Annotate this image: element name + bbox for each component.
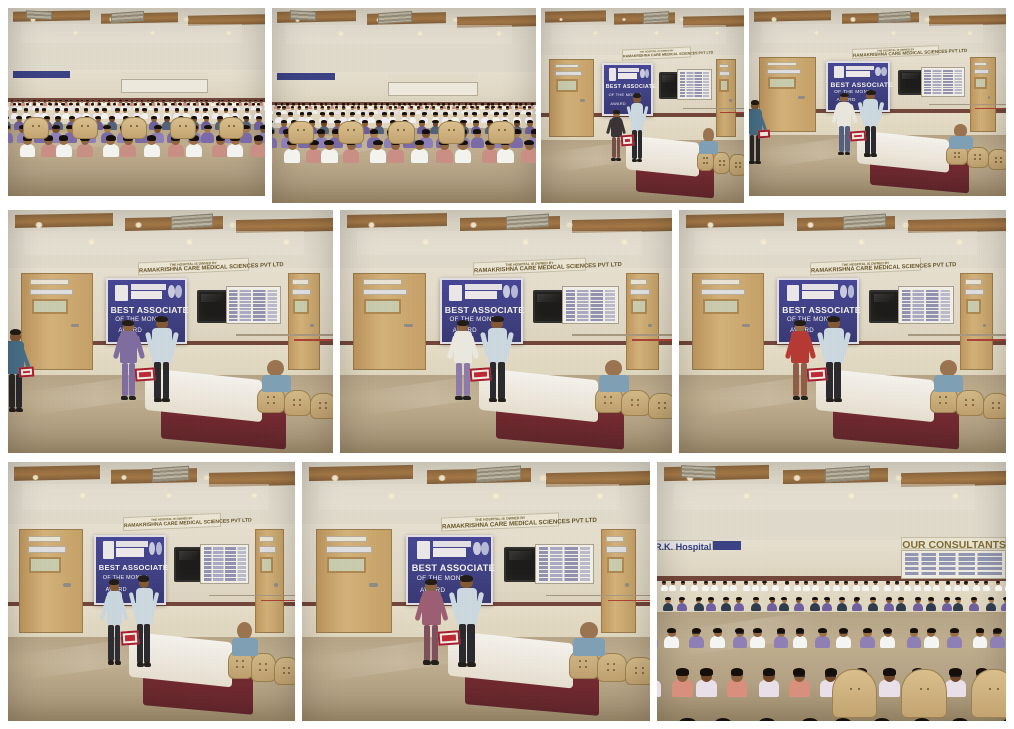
chair-perforation <box>995 161 997 163</box>
person-shoe <box>749 161 755 165</box>
consultants-board: OUR CONSULTANTS <box>901 537 1006 549</box>
chair-perforation <box>613 669 615 671</box>
award-child-recipient[interactable]: THE HOSPITAL IS OWNED BYRAMAKRISHNA CARE… <box>541 8 744 203</box>
audience-member <box>144 135 160 156</box>
person-torso <box>457 588 478 625</box>
banner-seal-icon <box>848 285 855 297</box>
auditorium-chair[interactable] <box>597 653 627 681</box>
auditorium-chair[interactable] <box>274 657 295 685</box>
eyeglasses-icon <box>840 632 848 634</box>
person-hair <box>613 110 620 114</box>
door-vision-panel <box>32 299 68 314</box>
auditorium-chair[interactable] <box>621 390 649 417</box>
audience-member-body <box>794 585 801 591</box>
person-shoe <box>871 153 877 157</box>
audience-member <box>672 669 692 697</box>
audience-member-body <box>761 585 768 591</box>
hall-door[interactable] <box>960 273 993 370</box>
award-saree-recipient[interactable]: THE HOSPITAL IS OWNED BYRAMAKRISHNA CARE… <box>679 210 1006 453</box>
audience-member-body <box>734 603 744 611</box>
banner-seal-icon <box>149 542 155 555</box>
audience-member-body <box>962 585 969 591</box>
door-vision-panel <box>974 77 986 89</box>
auditorium-chair[interactable] <box>988 149 1006 170</box>
ceiling-panel <box>551 25 726 45</box>
chair-perforation <box>635 667 637 669</box>
seated-guest-head <box>237 622 252 640</box>
ceiling-panel <box>285 25 512 45</box>
duty-roster-row <box>902 308 950 311</box>
audience-member-hair <box>91 103 94 105</box>
audience-member <box>810 597 820 610</box>
audience-member-hair <box>952 718 968 721</box>
audience-member-hair <box>408 103 410 104</box>
banner-seal-icon <box>481 542 488 555</box>
audience-member <box>869 718 896 721</box>
audience-member <box>761 581 768 590</box>
seated-guest <box>573 622 604 656</box>
person-shoe <box>144 662 151 667</box>
audience-member <box>986 597 996 610</box>
audience-member-hair <box>531 103 533 104</box>
audience-member <box>947 628 962 648</box>
audience-member-hair <box>736 597 742 600</box>
audience-member-body <box>227 144 243 157</box>
chair-perforation <box>228 125 230 127</box>
audience-member-hair <box>393 103 395 104</box>
duty-roster-row <box>566 304 615 307</box>
person-hair <box>425 579 438 585</box>
audience-member <box>973 628 988 648</box>
audience-member-body <box>41 144 57 157</box>
audience-member-hair <box>48 103 51 105</box>
audience-wide-left[interactable] <box>8 8 265 196</box>
door-sign-plate <box>30 279 68 285</box>
audience-member-body <box>689 636 704 648</box>
audience-member-body <box>250 144 265 157</box>
award-purple-scrubs-recipient[interactable]: THE HOSPITAL IS OWNED BYRAMAKRISHNA CARE… <box>8 210 333 453</box>
eyeglasses-icon <box>946 583 950 584</box>
back-wall-signboard <box>388 74 478 80</box>
auditorium-chair[interactable] <box>729 154 744 175</box>
door-handle[interactable] <box>625 583 629 587</box>
banner-brand-line2 <box>465 291 497 299</box>
audience-member-hair <box>886 597 892 600</box>
door-sign-plate <box>555 64 578 69</box>
audience-member <box>969 597 979 610</box>
duty-roster-row <box>204 570 246 573</box>
person-shoe <box>611 158 616 161</box>
audience-member-body <box>933 585 940 591</box>
audience-member-body <box>954 585 961 591</box>
audience-member-hair <box>458 103 460 104</box>
auditorium-chair[interactable] <box>251 653 275 681</box>
audience-member-hair <box>276 112 281 115</box>
reception-signboard[interactable] <box>277 73 335 80</box>
door-handle[interactable] <box>729 99 731 102</box>
chair-perforation <box>958 156 960 158</box>
audience-member-hair <box>1003 597 1006 600</box>
auditorium-chair[interactable] <box>438 121 464 144</box>
audience-member-body <box>842 585 849 591</box>
auditorium-chair[interactable] <box>971 669 1006 718</box>
banner-seal-icon <box>875 67 880 76</box>
hall-door[interactable] <box>549 59 594 137</box>
audience-member <box>945 669 965 697</box>
audience-member-body <box>907 636 922 648</box>
audience-member-hair <box>109 116 115 119</box>
award-white-coat-recipient[interactable]: THE HOSPITAL IS OWNED BYRAMAKRISHNA CARE… <box>749 8 1006 196</box>
person-hair <box>491 316 504 322</box>
audience-member-hair <box>224 108 228 111</box>
consultants-row <box>905 572 1002 575</box>
award-presenter <box>149 317 174 403</box>
auditorium-chair[interactable] <box>832 669 877 718</box>
door-handle[interactable] <box>983 324 987 328</box>
ac-vent-grille <box>111 11 144 24</box>
duty-roster-row <box>539 574 590 577</box>
chair-perforation <box>273 402 275 404</box>
person-leg <box>498 362 505 398</box>
hall-door[interactable] <box>316 529 393 632</box>
audience-member-hair <box>187 103 190 105</box>
hall-door[interactable] <box>759 57 816 132</box>
person-leg <box>432 625 439 661</box>
person-leg <box>424 625 431 661</box>
eyeglasses-icon <box>964 583 968 584</box>
auditorium-chair[interactable] <box>488 121 514 144</box>
audience-member-hair <box>184 108 188 111</box>
person-shoe <box>467 662 476 667</box>
audience-member-hair <box>398 103 400 104</box>
person-leg <box>16 374 22 409</box>
door-sign-plate <box>965 289 984 296</box>
award-plaque-insert <box>854 134 862 137</box>
auditorium-chair[interactable] <box>967 147 989 168</box>
audience-member-hair <box>203 108 207 111</box>
person-shoe <box>755 161 761 165</box>
award-plaque <box>19 367 34 378</box>
person-shoe <box>616 158 621 161</box>
audience-member-hair <box>298 103 300 104</box>
audience-member-hair <box>679 718 695 721</box>
duty-roster-row <box>680 75 709 77</box>
audience-member-body <box>1005 585 1006 591</box>
banner-logo-mark <box>609 68 616 81</box>
auditorium-chair[interactable] <box>625 657 650 685</box>
audience-member-body <box>750 636 765 648</box>
audience-member-hair <box>245 108 249 111</box>
audience-member-hair <box>971 597 977 600</box>
door-handle[interactable] <box>274 583 277 587</box>
door-handle[interactable] <box>369 583 378 587</box>
audience-member-hair <box>55 108 59 111</box>
audience-member-hair <box>731 668 743 675</box>
audience-close-up[interactable]: OUR CONSULTANTSR.K. Hospital <box>657 462 1006 721</box>
chair-perforation <box>703 162 705 164</box>
corridor-railing <box>683 108 744 109</box>
audience-member <box>689 628 704 648</box>
audience-member <box>774 628 789 648</box>
auditorium-chair[interactable] <box>284 390 312 417</box>
auditorium-chair[interactable] <box>310 393 333 420</box>
audience-wide-center[interactable] <box>272 8 536 203</box>
tv-screen-glare <box>201 294 223 303</box>
duty-roster-row <box>539 566 590 569</box>
person-shoe <box>793 396 801 400</box>
audience-member-hair <box>302 103 304 104</box>
auditorium-chair[interactable] <box>23 117 49 140</box>
audience-member-body <box>810 603 820 611</box>
duty-roster-row <box>566 297 615 300</box>
eyeglasses-icon <box>794 675 805 678</box>
audience-member <box>973 581 980 590</box>
chair-perforation <box>299 399 301 401</box>
audience-member-hair <box>519 103 521 104</box>
chair-perforation <box>265 663 267 665</box>
hall-door[interactable] <box>626 273 659 370</box>
seated-guest <box>949 124 972 148</box>
person-shoe <box>108 660 115 665</box>
duty-roster-row <box>566 301 615 304</box>
reception-signboard[interactable] <box>13 71 70 78</box>
audience-member <box>694 597 704 610</box>
audience-member-hair <box>802 718 818 721</box>
audience-member-hair <box>13 103 16 105</box>
door-handle[interactable] <box>798 96 805 99</box>
hall-door[interactable] <box>970 57 996 132</box>
auditorium-chair[interactable] <box>713 152 730 173</box>
seated-guest <box>599 360 629 392</box>
audience-member-hair <box>300 112 305 115</box>
door-handle[interactable] <box>310 324 314 328</box>
auditorium-chair[interactable] <box>648 393 672 420</box>
chair-perforation <box>979 154 981 156</box>
chair-perforation <box>579 666 581 668</box>
auditorium-chair[interactable] <box>956 390 984 417</box>
ceiling-downlight <box>679 18 683 22</box>
reception-board-label: R.K. Hospital <box>657 542 712 552</box>
auditorium-chair[interactable] <box>121 117 147 140</box>
audience-member <box>674 718 701 721</box>
award-recipient <box>835 94 854 156</box>
audience-member-body <box>212 144 228 157</box>
audience-member-body <box>793 636 808 648</box>
audience-member <box>954 581 961 590</box>
audience-member <box>661 581 668 590</box>
banner-headline: BEST ASSOCIATE <box>99 563 168 572</box>
auditorium-chair[interactable] <box>983 393 1006 420</box>
ceiling <box>8 210 333 268</box>
ceiling-downlight <box>166 493 172 498</box>
ceiling-wood-panel <box>545 10 606 22</box>
auditorium-chair[interactable] <box>901 669 946 718</box>
door-vision-panel <box>260 557 274 573</box>
chair-perforation <box>706 157 708 159</box>
ac-vent-grille <box>681 465 716 478</box>
award-plaque <box>438 630 461 646</box>
duty-roster-rows <box>566 290 615 322</box>
tv-screen-glare <box>874 294 896 303</box>
door-handle[interactable] <box>988 96 991 99</box>
audience-member-hair <box>8 116 9 119</box>
award-two-men[interactable]: THE HOSPITAL IS OWNED BYRAMAKRISHNA CARE… <box>8 462 295 721</box>
award-recipient <box>789 321 813 401</box>
audience-member <box>657 718 663 721</box>
seated-guest <box>262 360 291 392</box>
chair-perforation <box>723 160 725 162</box>
audience-member <box>370 140 386 162</box>
audience-member-hair <box>40 103 43 105</box>
audience-member <box>794 597 804 610</box>
person-torso <box>863 99 878 126</box>
audience-member-body <box>872 585 879 591</box>
audience-member-hair <box>134 103 137 105</box>
award-plaque <box>120 630 139 645</box>
audience-member-hair <box>374 103 376 104</box>
audience-member-body <box>1001 603 1006 611</box>
seated-guest-head <box>703 128 714 141</box>
corridor-railing <box>546 595 650 597</box>
audience-member-hair <box>233 108 237 111</box>
auditorium-chair[interactable] <box>338 121 364 144</box>
audience-member-hair <box>753 628 762 633</box>
person-shoe <box>115 660 122 665</box>
duty-roster-row <box>924 89 962 91</box>
hall-door[interactable] <box>21 273 93 370</box>
chair-perforation <box>242 666 244 668</box>
person-shoe <box>154 398 162 403</box>
audience-member-body <box>812 585 819 591</box>
person-leg <box>144 624 150 663</box>
ceiling <box>657 462 1006 540</box>
audience-member-hair <box>713 628 722 633</box>
duty-roster-row <box>229 293 277 296</box>
audience-member <box>709 718 736 721</box>
corridor-railing <box>572 334 672 335</box>
banner-seal-icon <box>881 67 886 76</box>
audience-member-hair <box>85 103 88 105</box>
duty-roster-row <box>539 558 590 561</box>
chair-perforation <box>635 672 637 674</box>
person-leg <box>617 137 621 158</box>
audience-member-hair <box>272 120 273 124</box>
door-sign-plate <box>606 546 626 553</box>
chair-perforation <box>995 157 997 159</box>
audience-member <box>321 140 337 162</box>
duty-roster-row <box>539 578 590 581</box>
audience-member-hair <box>113 103 116 105</box>
audience-member-body <box>663 603 673 611</box>
hall-door[interactable] <box>19 529 82 632</box>
person-leg <box>467 624 474 663</box>
audience-member <box>853 581 860 590</box>
audience-member-hair <box>515 112 520 115</box>
hall-door[interactable] <box>288 273 321 370</box>
chair-perforation <box>939 396 941 398</box>
audience-member <box>721 597 731 610</box>
person-leg <box>845 126 850 152</box>
person-leg <box>871 126 876 154</box>
chair-perforation <box>288 667 290 669</box>
person-hair <box>794 320 806 326</box>
door-sign-plate <box>363 279 402 285</box>
door-handle[interactable] <box>63 583 70 587</box>
ceiling-downlight <box>79 493 85 498</box>
chair-perforation <box>293 399 295 401</box>
person-shoe <box>458 662 467 667</box>
auditorium-chair[interactable] <box>288 121 314 144</box>
audience-member-hair <box>753 597 759 600</box>
audience-member <box>657 628 658 648</box>
chair-perforation <box>242 660 244 662</box>
hall-door[interactable] <box>353 273 426 370</box>
duty-roster-row <box>902 319 950 322</box>
hall-door[interactable] <box>601 529 636 632</box>
audience-member <box>812 581 819 590</box>
duty-roster-row <box>539 551 590 554</box>
photo-scene: THE HOSPITAL IS OWNED BYRAMAKRISHNA CARE… <box>340 210 672 453</box>
audience-member <box>706 597 716 610</box>
eyeglasses-icon <box>884 632 892 634</box>
door-handle[interactable] <box>648 324 652 328</box>
auditorium-chair[interactable] <box>72 117 98 140</box>
audience-member-hair <box>415 140 425 146</box>
auditorium-chair[interactable] <box>219 117 245 140</box>
banner-logo-mark <box>787 285 799 301</box>
banner-logo-mark <box>103 541 114 558</box>
audience-member-body <box>733 636 748 648</box>
door-sign-plate <box>555 71 581 76</box>
audience-member-body <box>272 110 273 115</box>
audience-member-body <box>904 585 911 591</box>
hall-door[interactable] <box>716 59 736 137</box>
audience-member-hair <box>350 112 355 115</box>
award-plaque-insert <box>811 372 824 378</box>
hall-door[interactable] <box>255 529 284 632</box>
banner-seal-icon <box>640 69 644 79</box>
auditorium-chair[interactable] <box>388 121 414 144</box>
award-saree-recipient-two[interactable]: THE HOSPITAL IS OWNED BYRAMAKRISHNA CARE… <box>302 462 650 721</box>
award-lab-coat-recipient[interactable]: THE HOSPITAL IS OWNED BYRAMAKRISHNA CARE… <box>340 210 672 453</box>
audience-member-body <box>824 585 831 591</box>
audience-member <box>995 581 1002 590</box>
audience-member-body <box>853 585 860 591</box>
door-handle[interactable] <box>71 324 79 328</box>
audience-member-hair <box>325 103 327 104</box>
ceiling-downlight <box>956 239 963 245</box>
audience-member-hair <box>453 112 458 115</box>
ceiling-panel <box>695 231 976 255</box>
audience-member <box>784 581 791 590</box>
audience-member <box>894 581 901 590</box>
banner-logo-mark <box>417 541 430 558</box>
hall-door[interactable] <box>692 273 764 370</box>
banner-brand-line1 <box>116 541 147 547</box>
door-handle[interactable] <box>742 324 750 328</box>
auditorium-chair[interactable] <box>170 117 196 140</box>
duty-roster-row <box>924 92 962 94</box>
chair-perforation <box>607 663 609 665</box>
audience-member <box>734 597 744 610</box>
audience-member <box>772 581 779 590</box>
ac-vent-grille <box>643 11 669 24</box>
door-handle[interactable] <box>404 324 413 328</box>
duty-roster-row <box>902 293 950 296</box>
chair-perforation <box>259 663 261 665</box>
door-handle[interactable] <box>580 99 585 102</box>
audience-member-hair <box>216 103 219 105</box>
